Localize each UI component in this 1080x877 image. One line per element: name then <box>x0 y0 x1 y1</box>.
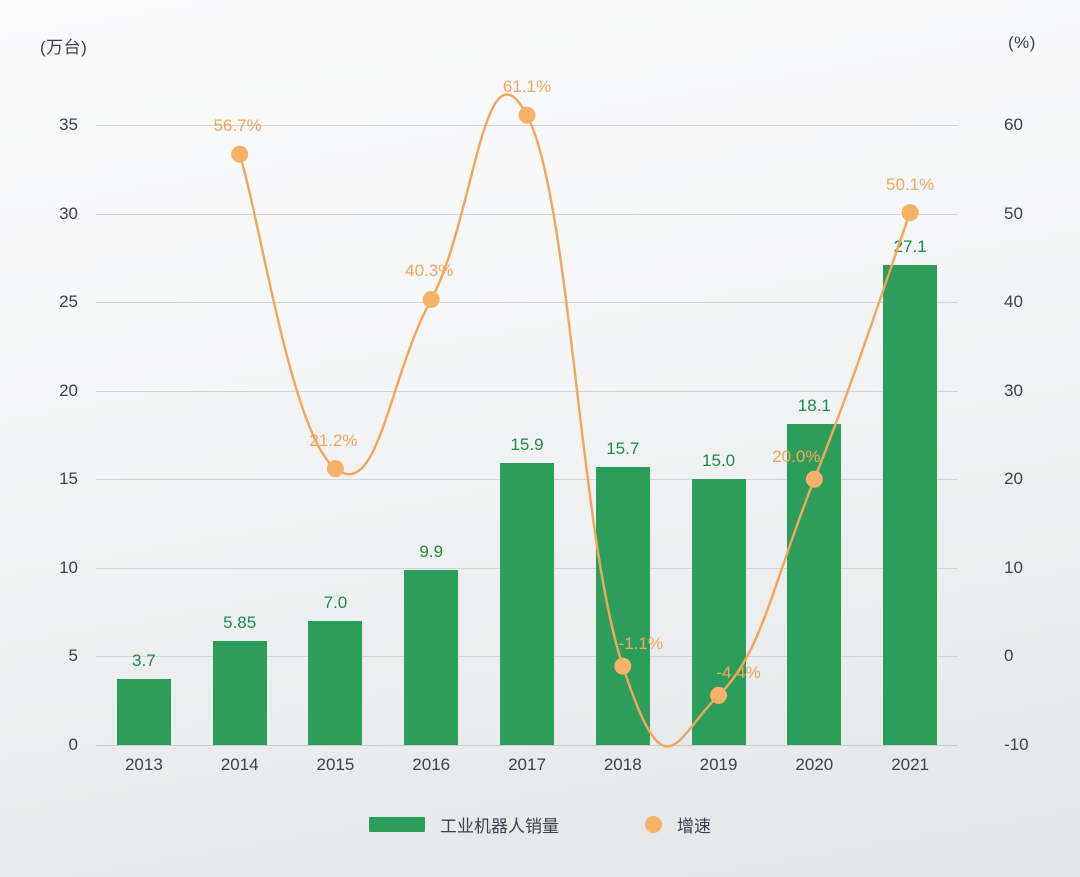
x-axis-tick-label: 2020 <box>795 755 833 775</box>
line-value-label: 56.7% <box>214 116 262 136</box>
bar[interactable] <box>213 641 267 745</box>
left-axis-tick-label: 10 <box>18 558 78 578</box>
line-value-label: -1.1% <box>619 634 663 654</box>
bar[interactable] <box>500 463 554 745</box>
bar[interactable] <box>596 467 650 745</box>
line-value-label: 50.1% <box>886 175 934 195</box>
line-data-point[interactable] <box>423 291 440 308</box>
bar-value-label: 5.85 <box>223 613 256 633</box>
right-axis-tick-label: 20 <box>1004 469 1064 489</box>
x-axis-tick-label: 2017 <box>508 755 546 775</box>
bar[interactable] <box>692 479 746 745</box>
line-value-label: 20.0% <box>772 447 820 467</box>
left-axis-tick-label: 0 <box>18 735 78 755</box>
bar[interactable] <box>117 679 171 745</box>
gridline <box>96 302 958 303</box>
right-axis-tick-label: 30 <box>1004 381 1064 401</box>
gridline <box>96 745 958 746</box>
line-value-label: -4.4% <box>716 663 760 683</box>
dot-swatch-icon <box>645 816 662 833</box>
line-value-label: 40.3% <box>405 261 453 281</box>
x-axis-tick-label: 2016 <box>412 755 450 775</box>
bar-value-label: 18.1 <box>798 396 831 416</box>
right-axis-tick-label: 50 <box>1004 204 1064 224</box>
x-axis-tick-label: 2021 <box>891 755 929 775</box>
chart-container: (万台) (%) 05101520253035 -100102030405060… <box>0 0 1080 877</box>
line-value-label: 21.2% <box>309 431 357 451</box>
right-axis-tick-label: -10 <box>1004 735 1064 755</box>
bar-value-label: 9.9 <box>419 542 443 562</box>
left-axis-unit-label: (万台) <box>40 33 87 58</box>
bar[interactable] <box>883 265 937 745</box>
bar-value-label: 7.0 <box>324 593 348 613</box>
right-axis-tick-label: 40 <box>1004 292 1064 312</box>
line-data-point[interactable] <box>519 107 536 124</box>
bar[interactable] <box>787 424 841 745</box>
left-axis-tick-label: 30 <box>18 204 78 224</box>
bar-value-label: 15.0 <box>702 451 735 471</box>
bar-value-label: 15.7 <box>606 439 639 459</box>
x-axis-tick-label: 2019 <box>700 755 738 775</box>
x-axis-tick-label: 2013 <box>125 755 163 775</box>
x-axis-tick-label: 2015 <box>317 755 355 775</box>
bar[interactable] <box>404 570 458 745</box>
right-axis-tick-label: 60 <box>1004 115 1064 135</box>
legend-label-bar: 工业机器人销量 <box>440 812 559 837</box>
left-axis-tick-label: 25 <box>18 292 78 312</box>
legend-label-line: 增速 <box>677 812 711 837</box>
bar-value-label: 27.1 <box>894 237 927 257</box>
bar-swatch-icon <box>369 817 425 832</box>
right-axis-tick-label: 0 <box>1004 646 1064 666</box>
line-data-point[interactable] <box>327 460 344 477</box>
right-axis-tick-label: 10 <box>1004 558 1064 578</box>
left-axis-tick-label: 20 <box>18 381 78 401</box>
left-axis-tick-label: 5 <box>18 646 78 666</box>
line-value-label: 61.1% <box>503 77 551 97</box>
right-axis-unit-label: (%) <box>1008 33 1036 53</box>
chart-legend: 工业机器人销量 增速 <box>0 812 1080 837</box>
legend-item-bar[interactable]: 工业机器人销量 <box>369 812 559 837</box>
left-axis-tick-label: 15 <box>18 469 78 489</box>
left-axis-tick-label: 35 <box>18 115 78 135</box>
gridline <box>96 391 958 392</box>
x-axis-tick-label: 2014 <box>221 755 259 775</box>
bar-value-label: 3.7 <box>132 651 156 671</box>
gridline <box>96 214 958 215</box>
bar[interactable] <box>308 621 362 745</box>
bar-value-label: 15.9 <box>510 435 543 455</box>
line-data-point[interactable] <box>231 146 248 163</box>
x-axis-tick-label: 2018 <box>604 755 642 775</box>
legend-item-line[interactable]: 增速 <box>645 812 711 837</box>
